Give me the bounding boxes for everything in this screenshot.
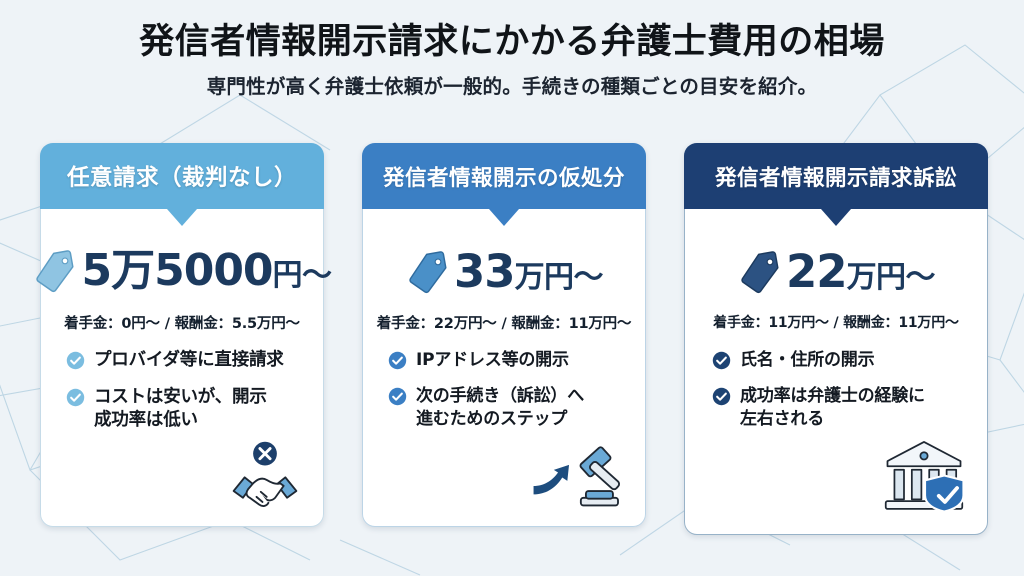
fee-breakdown: 着手金：22万円〜 / 報酬金：11万円〜 [362,312,646,333]
price-row: 22万円〜 [684,249,988,294]
header-block: 発信者情報開示請求にかかる弁護士費用の相場 専門性が高く弁護士依頼が一般的。手続… [0,22,1024,99]
feature-list: 氏名・住所の開示 成功率は弁護士の経験に左右される [712,349,974,444]
price-unit: 円〜 [273,258,332,293]
pricing-card-disclosure-lawsuit[interactable]: 発信者情報開示請求訴訟 22万円〜 着手金：11万円〜 / 報酬金：11万円〜 [684,143,988,535]
handshake-with-x-badge-icon [222,435,308,513]
card-header-label: 任意請求（裁判なし） [40,143,324,209]
card-header-notch [167,209,197,226]
pricing-card-provisional-disposition[interactable]: 発信者情報開示の仮処分 33万円〜 着手金：22万円〜 / 報酬金：11万円〜 [362,143,646,527]
price-row: 33万円〜 [362,249,646,294]
price-tag-icon [32,249,76,293]
list-item: コストは安いが、開示成功率は低い [66,386,310,432]
price-unit: 万円〜 [515,260,604,295]
card-body: 22万円〜 着手金：11万円〜 / 報酬金：11万円〜 氏名・住所の開示 [684,209,988,535]
price-tag-icon [737,250,781,294]
check-circle-icon [66,388,85,407]
card-header-notch [489,209,519,226]
price-main: 22 [786,245,847,298]
card-header-label: 発信者情報開示請求訴訟 [684,143,988,209]
feature-text: 成功率は弁護士の経験に左右される [740,385,925,430]
page-title: 発信者情報開示請求にかかる弁護士費用の相場 [0,22,1024,62]
courthouse-with-shield-check-icon [878,435,970,515]
feature-text: 次の手続き（訴訟）へ進むためのステップ [416,385,584,430]
card-body: 33万円〜 着手金：22万円〜 / 報酬金：11万円〜 IPアドレス等の開示 [362,209,646,527]
price-amount: 33万円〜 [454,249,603,294]
feature-text: プロバイダ等に直接請求 [94,349,284,372]
page-subtitle: 専門性が高く弁護士依頼が一般的。手続きの種類ごとの目安を紹介。 [0,70,1024,99]
price-tag-icon [405,250,449,294]
list-item: プロバイダ等に直接請求 [66,349,310,372]
check-circle-icon [388,351,407,370]
fee-breakdown: 着手金：11万円〜 / 報酬金：11万円〜 [684,312,988,332]
gavel-with-arrow-icon [530,437,630,513]
infographic-stage: 発信者情報開示請求にかかる弁護士費用の相場 専門性が高く弁護士依頼が一般的。手続… [0,0,1024,576]
price-amount: 22万円〜 [786,249,935,294]
card-body: 5万5000円〜 着手金：0円〜 / 報酬金：5.5万円〜 プロバイダ等に直接請… [40,209,324,527]
feature-text: 氏名・住所の開示 [740,349,874,371]
list-item: 氏名・住所の開示 [712,349,974,371]
price-unit: 万円〜 [847,260,936,295]
feature-list: IPアドレス等の開示 次の手続き（訴訟）へ進むためのステップ [388,349,632,444]
card-header-label: 発信者情報開示の仮処分 [362,143,646,209]
pricing-card-voluntary-claim[interactable]: 任意請求（裁判なし） 5万5000円〜 着手金：0円〜 / 報酬金：5.5万円〜 [40,143,324,527]
feature-text: コストは安いが、開示成功率は低い [94,386,267,432]
feature-text: IPアドレス等の開示 [416,349,569,371]
price-amount: 5万5000円〜 [81,249,331,293]
list-item: IPアドレス等の開示 [388,349,632,371]
fee-breakdown: 着手金：0円〜 / 報酬金：5.5万円〜 [40,312,324,333]
price-main: 33 [454,245,515,298]
list-item: 成功率は弁護士の経験に左右される [712,385,974,430]
card-header-notch [821,209,851,226]
check-circle-icon [388,387,407,406]
price-main: 5万5000 [81,245,272,296]
feature-list: プロバイダ等に直接請求 コストは安いが、開示成功率は低い [66,349,310,446]
price-row: 5万5000円〜 [40,249,324,293]
check-circle-icon [712,387,731,406]
list-item: 次の手続き（訴訟）へ進むためのステップ [388,385,632,430]
check-circle-icon [66,351,85,370]
check-circle-icon [712,351,731,370]
